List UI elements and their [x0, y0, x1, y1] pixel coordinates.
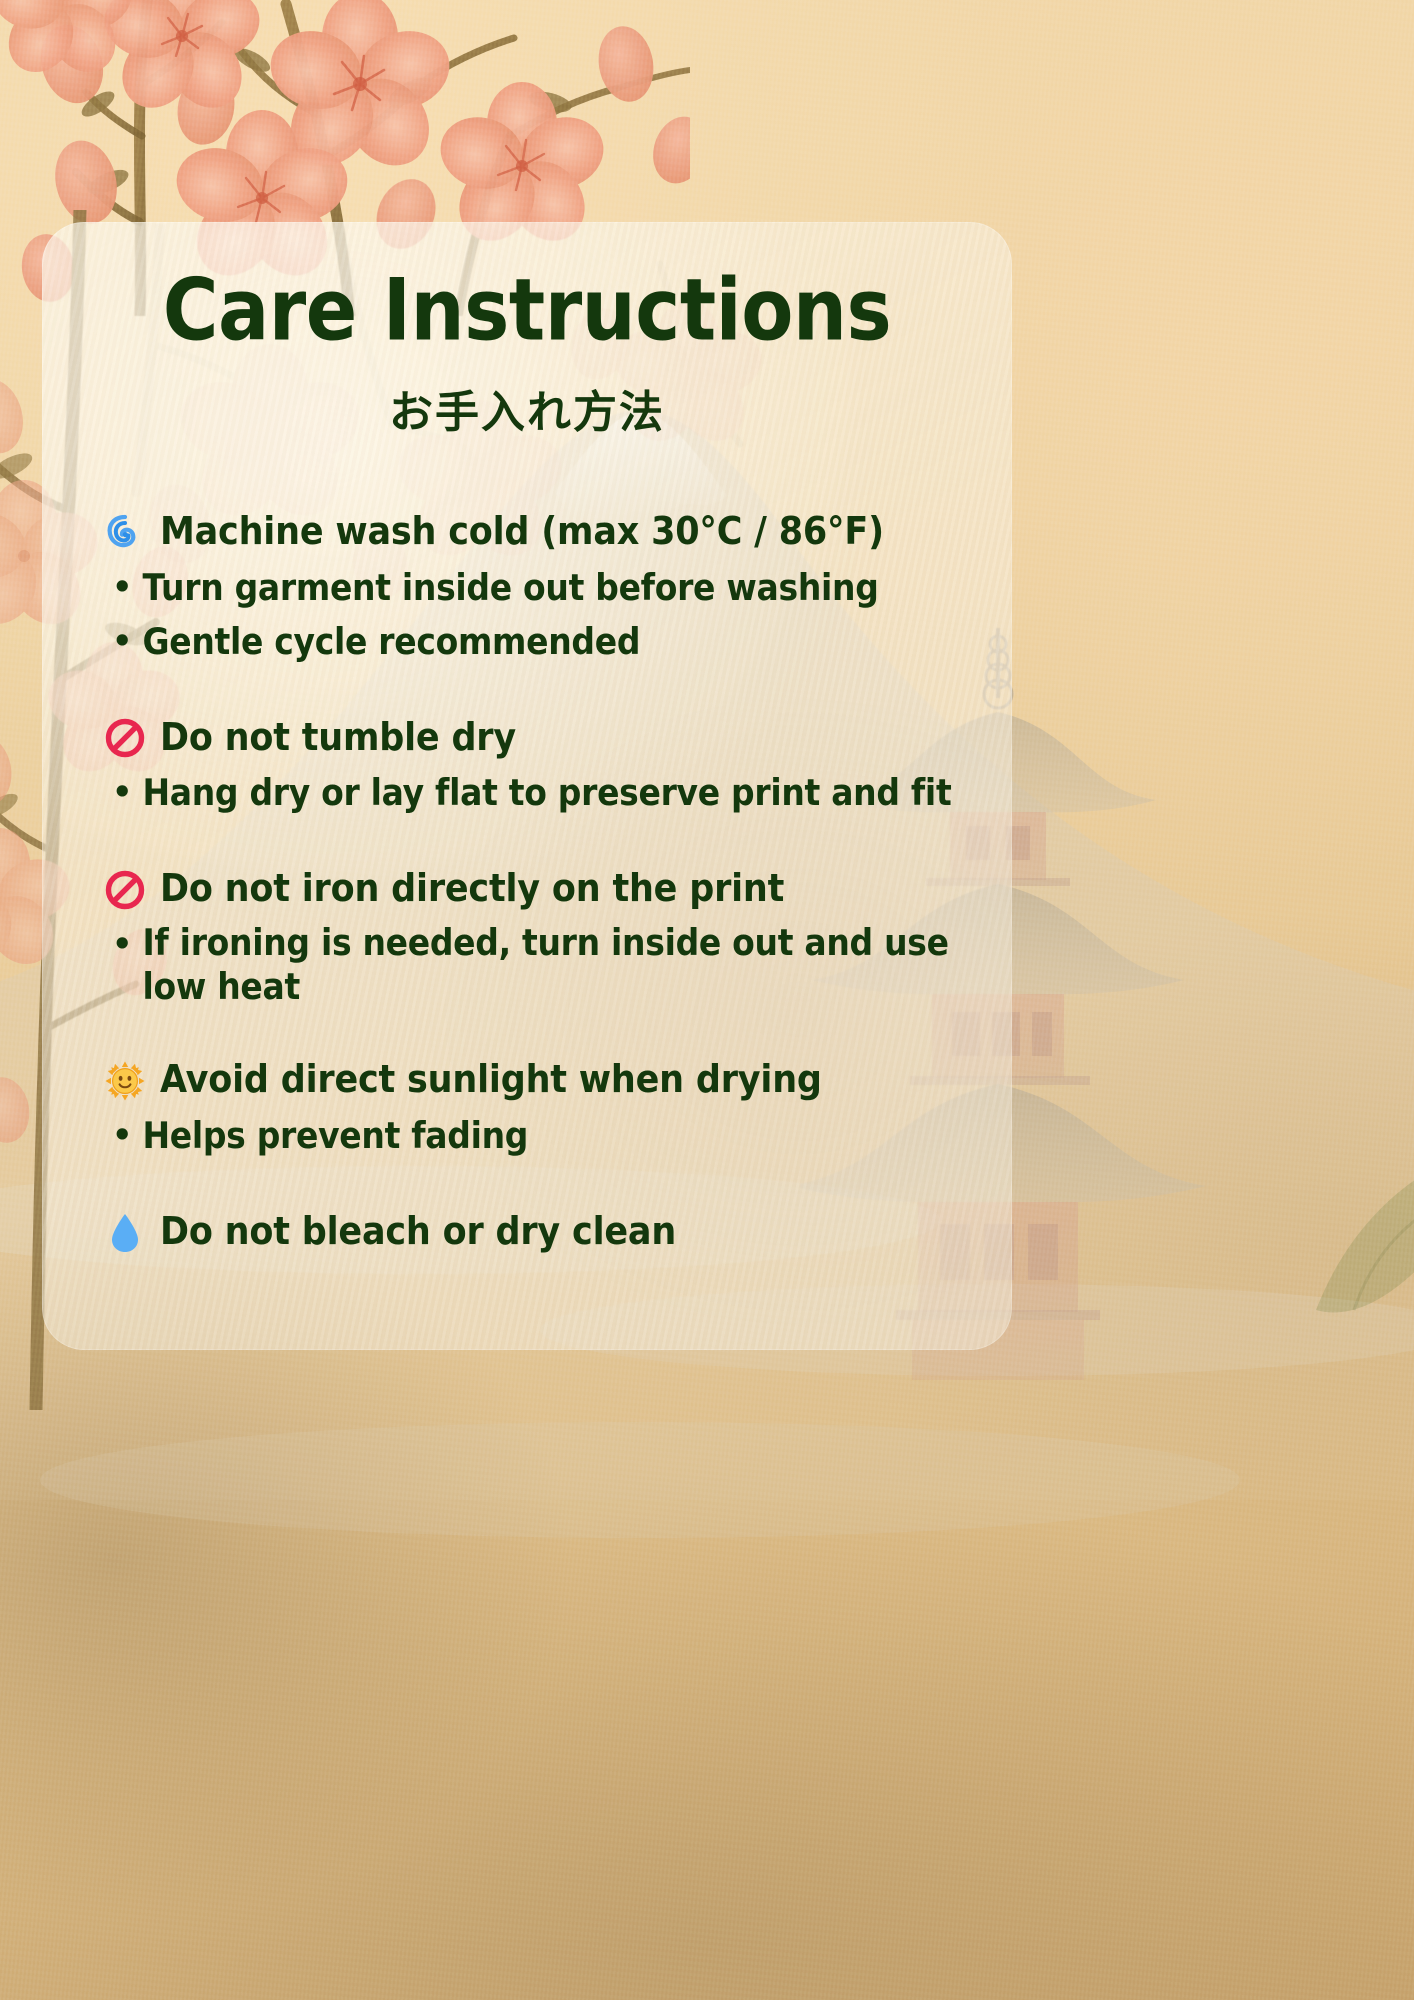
instruction-headline-text: Avoid direct sunlight when drying: [160, 1058, 822, 1103]
instruction-headline-text: Do not iron directly on the print: [160, 867, 784, 912]
instruction-bullet-text: Hang dry or lay flat to preserve print a…: [142, 771, 951, 815]
instruction-bullet: • Gentle cycle recommended: [112, 622, 968, 662]
instruction-headline: Machine wash cold (max 30°C / 86°F): [104, 512, 968, 554]
instruction-headline: Do not tumble dry: [104, 717, 968, 759]
instruction-group-no-bleach: Do not bleach or dry clean: [104, 1212, 968, 1254]
instruction-bullet: • If ironing is needed, turn inside out …: [112, 925, 968, 1004]
care-instructions-poster: Care Instructions お手入れ方法 Machine wash: [0, 0, 1414, 2000]
instruction-headline-text: Do not tumble dry: [160, 716, 516, 761]
bullet-marker: •: [112, 925, 132, 962]
instructions-list: Machine wash cold (max 30°C / 86°F) • Tu…: [86, 512, 968, 1254]
instruction-bullet-text: Helps prevent fading: [142, 1114, 528, 1158]
droplet-icon: [104, 1212, 146, 1254]
instruction-bullet: • Hang dry or lay flat to preserve print…: [112, 773, 968, 813]
instructions-card: Care Instructions お手入れ方法 Machine wash: [42, 222, 1012, 1350]
instruction-headline-text: Do not bleach or dry clean: [160, 1210, 676, 1255]
instruction-group-no-tumble-dry: Do not tumble dry • Hang dry or lay flat…: [104, 717, 968, 813]
instruction-bullet-text: Gentle cycle recommended: [142, 620, 640, 664]
bullet-marker: •: [112, 568, 132, 605]
sun-with-face-icon: [104, 1060, 146, 1102]
bullet-marker: •: [112, 622, 132, 659]
page-subtitle-japanese: お手入れ方法: [86, 376, 968, 440]
instruction-bullet: • Turn garment inside out before washing: [112, 568, 968, 608]
bullet-marker: •: [112, 1116, 132, 1153]
instruction-group-no-iron: Do not iron directly on the print • If i…: [104, 869, 968, 1004]
cyclone-icon: [104, 512, 146, 554]
instruction-bullet: • Helps prevent fading: [112, 1116, 968, 1156]
instruction-headline-text: Machine wash cold (max 30°C / 86°F): [160, 510, 884, 555]
page-title: Care Instructions: [86, 264, 968, 357]
prohibition-icon: [104, 869, 146, 911]
instruction-headline: Do not iron directly on the print: [104, 869, 968, 911]
instruction-bullet-text: Turn garment inside out before washing: [142, 566, 878, 610]
instruction-headline: Avoid direct sunlight when drying: [104, 1060, 968, 1102]
bullet-marker: •: [112, 773, 132, 810]
instruction-group-machine-wash: Machine wash cold (max 30°C / 86°F) • Tu…: [104, 512, 968, 661]
instruction-headline: Do not bleach or dry clean: [104, 1212, 968, 1254]
instruction-group-avoid-sunlight: Avoid direct sunlight when drying • Help…: [104, 1060, 968, 1156]
prohibition-icon: [104, 717, 146, 759]
instruction-bullet-text: If ironing is needed, turn inside out an…: [142, 921, 968, 1008]
corner-leaf-bottom-right: [1230, 1170, 1414, 1350]
